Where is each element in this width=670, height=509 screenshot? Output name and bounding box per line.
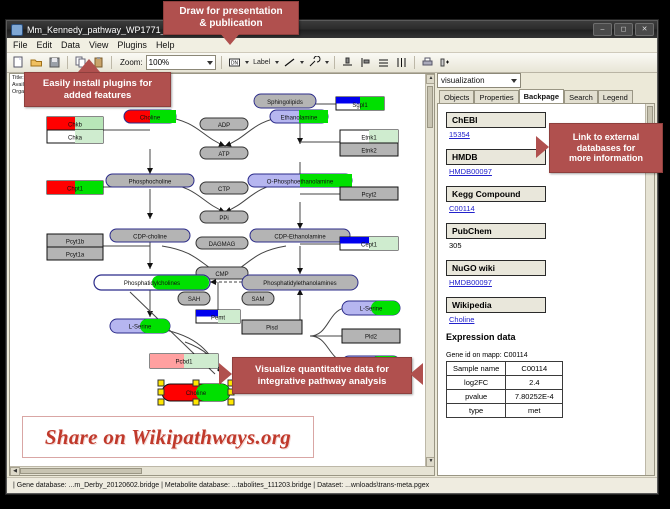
node-pcyt1b[interactable]: Pcyt1b — [47, 234, 103, 247]
svg-text:ADP: ADP — [218, 123, 230, 129]
table-row: log2FC 2.4 — [447, 376, 563, 390]
canvas-scroll-up-button[interactable]: ▲ — [426, 74, 435, 84]
visualization-row: visualization — [437, 73, 655, 88]
menu-item-plugins[interactable]: Plugins — [117, 40, 147, 50]
svg-text:CTP: CTP — [218, 187, 230, 193]
callout-links-text: Link to external databases for more info… — [569, 132, 643, 164]
svg-text:Pcyt1a: Pcyt1a — [66, 253, 85, 259]
receptor-icon[interactable] — [307, 55, 322, 70]
node-dagmag[interactable]: DAGMAG — [196, 237, 248, 249]
status-bar-text: | Gene database: ...m_Derby_20120602.bri… — [13, 482, 429, 489]
svg-text:Phosphatidylethanolamines: Phosphatidylethanolamines — [263, 281, 336, 287]
receptor-chevron-icon[interactable] — [325, 61, 329, 64]
canvas-vscrollbar[interactable]: ▲ ▼ — [425, 74, 434, 475]
order-icon[interactable] — [438, 55, 453, 70]
menu-item-view[interactable]: View — [89, 40, 108, 50]
node-cdp-choline[interactable]: CDP-choline — [110, 229, 190, 242]
node-o-phosphoethanolamine[interactable]: O-Phosphoethanolamine — [248, 174, 352, 187]
svg-text:Chpt1: Chpt1 — [67, 187, 84, 193]
menu-item-data[interactable]: Data — [61, 40, 80, 50]
callout-plugins-text: Easily install plugins for added feature… — [43, 78, 152, 100]
toolbar-separator-3 — [221, 56, 222, 69]
expr-key-pvalue: pvalue — [447, 390, 506, 404]
table-row: Sample name C00114 — [447, 362, 563, 376]
db-title-chebi: ChEBI — [446, 112, 546, 128]
db-link-nugo-wiki[interactable]: HMDB00097 — [449, 278, 646, 287]
canvas-scroll-left-button[interactable]: ◀ — [10, 467, 20, 476]
tab-objects[interactable]: Objects — [439, 90, 474, 103]
db-link-wikipedia[interactable]: Choline — [449, 315, 646, 324]
new-file-icon[interactable] — [11, 55, 26, 70]
callout-share-text: Share on Wikipathways.org — [45, 425, 291, 450]
node-pcbd1[interactable]: Pcbd1 — [150, 354, 218, 368]
maximize-button[interactable]: ◻ — [614, 23, 633, 36]
node-pcyt1a[interactable]: Pcyt1a — [47, 247, 103, 260]
status-bar: | Gene database: ...m_Derby_20120602.bri… — [7, 477, 657, 493]
callout-visualize-right-arrow-icon — [410, 363, 423, 385]
screenshot-root: Mm_Kennedy_pathway_WP1771_45176.gpml – ◻… — [0, 0, 670, 509]
svg-text:Pemt: Pemt — [211, 316, 225, 322]
title-bar: Mm_Kennedy_pathway_WP1771_45176.gpml – ◻… — [7, 21, 657, 38]
tab-backpage[interactable]: Backpage — [519, 89, 564, 103]
distribute-icon[interactable] — [394, 55, 409, 70]
node-phosphatidylcholines[interactable]: Phosphatidylcholines — [94, 275, 210, 290]
node-cept1[interactable]: Cept1 — [340, 237, 398, 250]
svg-text:L-Serine: L-Serine — [129, 325, 152, 331]
line-icon[interactable] — [282, 55, 297, 70]
db-title-wikipedia: Wikipedia — [446, 297, 546, 313]
canvas-scroll-down-button[interactable]: ▼ — [426, 457, 435, 467]
expr-val-sample-name: C00114 — [506, 362, 563, 376]
expr-key-sample-name: Sample name — [447, 362, 506, 376]
zoom-value: 100% — [149, 58, 169, 67]
label-chevron-icon[interactable] — [275, 61, 279, 64]
canvas-hscrollbar[interactable]: ◀ — [10, 466, 426, 475]
svg-text:Sphingolipids: Sphingolipids — [267, 100, 303, 106]
node-l-serine-left[interactable]: L-Serine — [110, 319, 170, 333]
db-value-pubchem: 305 — [449, 241, 646, 250]
callout-links-arrow-icon — [536, 136, 549, 158]
svg-text:Choline: Choline — [140, 116, 161, 122]
zoom-label: Zoom: — [120, 58, 143, 67]
node-chpt1[interactable]: Chpt1 — [47, 181, 103, 194]
align-left-icon[interactable] — [358, 55, 373, 70]
svg-text:Chka: Chka — [68, 136, 83, 142]
node-pisd[interactable]: Pisd — [242, 320, 302, 334]
svg-text:DAGMAG: DAGMAG — [209, 242, 236, 248]
datanode-icon[interactable]: DN — [227, 55, 242, 70]
svg-text:SAM: SAM — [251, 297, 264, 303]
chevron-down-icon — [511, 79, 517, 83]
svg-text:CMP: CMP — [215, 272, 228, 278]
db-title-pubchem: PubChem — [446, 223, 546, 239]
node-adp[interactable]: ADP — [200, 118, 248, 130]
node-sgpl1[interactable]: Sgpl1 — [336, 97, 384, 110]
svg-text:Pisd: Pisd — [266, 326, 278, 332]
minimize-button[interactable]: – — [593, 23, 612, 36]
line-chevron-icon[interactable] — [300, 61, 304, 64]
close-button[interactable]: ✕ — [635, 23, 654, 36]
svg-text:ATP: ATP — [218, 152, 229, 158]
node-sam[interactable]: SAM — [242, 292, 274, 305]
gene-id-line: Gene id on mapp: C00114 — [446, 352, 646, 359]
svg-text:Etnk2: Etnk2 — [361, 149, 377, 155]
svg-text:Phosphocholine: Phosphocholine — [129, 180, 172, 186]
label-icon[interactable]: Label — [252, 55, 272, 70]
tab-properties[interactable]: Properties — [474, 90, 518, 103]
expression-table: Sample name C00114 log2FC 2.4 pvalue 7.8… — [446, 361, 563, 418]
svg-text:O-Phosphoethanolamine: O-Phosphoethanolamine — [267, 180, 334, 186]
node-phosphatidylethanolamines[interactable]: Phosphatidylethanolamines — [242, 275, 358, 290]
db-title-kegg-compound: Kegg Compound — [446, 186, 546, 202]
align-top-icon[interactable] — [340, 55, 355, 70]
svg-text:CDP-Ethanolamine: CDP-Ethanolamine — [274, 235, 326, 241]
svg-text:Pcbd1: Pcbd1 — [175, 360, 193, 366]
visualization-select[interactable]: visualization — [437, 73, 521, 88]
menu-item-help[interactable]: Help — [156, 40, 175, 50]
node-chkb[interactable]: Chkb — [47, 117, 103, 130]
callout-links: Link to external databases for more info… — [549, 123, 663, 173]
callout-draw-arrow-icon — [219, 32, 241, 45]
open-folder-icon[interactable] — [29, 55, 44, 70]
tab-legend[interactable]: Legend — [598, 90, 633, 103]
toolbar-separator-2 — [111, 56, 112, 69]
svg-text:Pld2: Pld2 — [365, 335, 378, 341]
node-atp[interactable]: ATP — [200, 147, 248, 159]
callout-draw: Draw for presentation & publication — [163, 1, 299, 35]
node-sphingolipids[interactable]: Sphingolipids — [254, 94, 316, 108]
node-l-serine-right[interactable]: L-Serine — [342, 301, 400, 315]
node-sah[interactable]: SAH — [178, 292, 210, 305]
callout-plugins: Easily install plugins for added feature… — [24, 72, 171, 107]
svg-text:PPi: PPi — [219, 216, 228, 222]
expression-data-heading: Expression data — [446, 332, 646, 342]
expr-val-pvalue: 7.80252E-4 — [506, 390, 563, 404]
expr-key-log2fc: log2FC — [447, 376, 506, 390]
toolbar-separator-5 — [414, 56, 415, 69]
node-pemt[interactable]: Pemt — [196, 310, 240, 323]
node-pcyt2[interactable]: Pcyt2 — [340, 187, 398, 200]
svg-text:Pcyt2: Pcyt2 — [361, 193, 377, 199]
svg-text:DN: DN — [231, 61, 239, 67]
menu-bar: File Edit Data View Plugins Help — [7, 38, 657, 53]
table-row: pvalue 7.80252E-4 — [447, 390, 563, 404]
toolbar-separator-4 — [334, 56, 335, 69]
panel-tabs: Objects Properties Backpage Search Legen… — [437, 90, 655, 103]
expr-val-type: met — [506, 404, 563, 418]
svg-text:Ethanolamine: Ethanolamine — [281, 116, 318, 122]
toolbar-separator-1 — [67, 56, 68, 69]
node-ctp[interactable]: CTP — [200, 182, 248, 194]
callout-visualize-text: Visualize quantitative data for integrat… — [255, 364, 389, 386]
expr-key-type: type — [447, 404, 506, 418]
svg-text:Phosphatidylcholines: Phosphatidylcholines — [124, 281, 180, 287]
menu-item-edit[interactable]: Edit — [37, 40, 53, 50]
node-ethanolamine-top[interactable]: Ethanolamine — [270, 110, 328, 123]
datanode-chevron-icon[interactable] — [245, 61, 249, 64]
visualization-value: visualization — [441, 76, 485, 85]
save-icon[interactable] — [47, 55, 62, 70]
node-choline-top[interactable]: Choline — [124, 110, 176, 123]
node-etnk1[interactable]: Etnk1 — [340, 130, 398, 143]
app-icon — [11, 24, 23, 36]
table-row: type met — [447, 404, 563, 418]
svg-text:Choline: Choline — [186, 391, 207, 397]
stack-icon[interactable] — [376, 55, 391, 70]
svg-text:Cept1: Cept1 — [361, 243, 378, 249]
svg-text:SAH: SAH — [188, 297, 200, 303]
tab-search[interactable]: Search — [564, 90, 598, 103]
db-title-nugo-wiki: NuGO wiki — [446, 260, 546, 276]
svg-text:Etnk1: Etnk1 — [361, 136, 377, 142]
svg-text:Chkb: Chkb — [68, 123, 83, 129]
menu-item-file[interactable]: File — [13, 40, 28, 50]
node-etnk2[interactable]: Etnk2 — [340, 143, 398, 156]
zoom-select[interactable]: 100% — [146, 55, 216, 70]
canvas-hscroll-thumb[interactable] — [20, 468, 142, 474]
node-ppi[interactable]: PPi — [200, 211, 248, 223]
svg-text:CDP-choline: CDP-choline — [133, 235, 167, 241]
db-title-hmdb: HMDB — [446, 149, 546, 165]
canvas-vscroll-thumb[interactable] — [427, 86, 433, 128]
callout-share: Share on Wikipathways.org — [22, 416, 314, 458]
svg-text:Pcyt1b: Pcyt1b — [66, 240, 85, 246]
print-icon[interactable] — [420, 55, 435, 70]
chevron-down-icon — [207, 61, 213, 65]
callout-plugins-arrow-icon — [78, 59, 100, 72]
svg-text:Sgpl1: Sgpl1 — [352, 103, 368, 109]
callout-draw-text: Draw for presentation & publication — [179, 6, 282, 30]
node-cdp-ethanolamine[interactable]: CDP-Ethanolamine — [250, 229, 350, 242]
callout-visualize: Visualize quantitative data for integrat… — [232, 357, 412, 394]
window-buttons: – ◻ ✕ — [593, 23, 657, 36]
label-icon-text: Label — [253, 59, 270, 66]
callout-visualize-left-arrow-icon — [219, 363, 232, 385]
node-pld2[interactable]: Pld2 — [342, 329, 400, 343]
node-phosphocholine[interactable]: Phosphocholine — [106, 174, 194, 187]
expr-val-log2fc: 2.4 — [506, 376, 563, 390]
svg-text:L-Serine: L-Serine — [360, 307, 383, 313]
node-chka[interactable]: Chka — [47, 130, 103, 143]
toolbar: Zoom: 100% DN Label — [7, 53, 657, 73]
db-link-kegg-compound[interactable]: C00114 — [449, 204, 646, 213]
